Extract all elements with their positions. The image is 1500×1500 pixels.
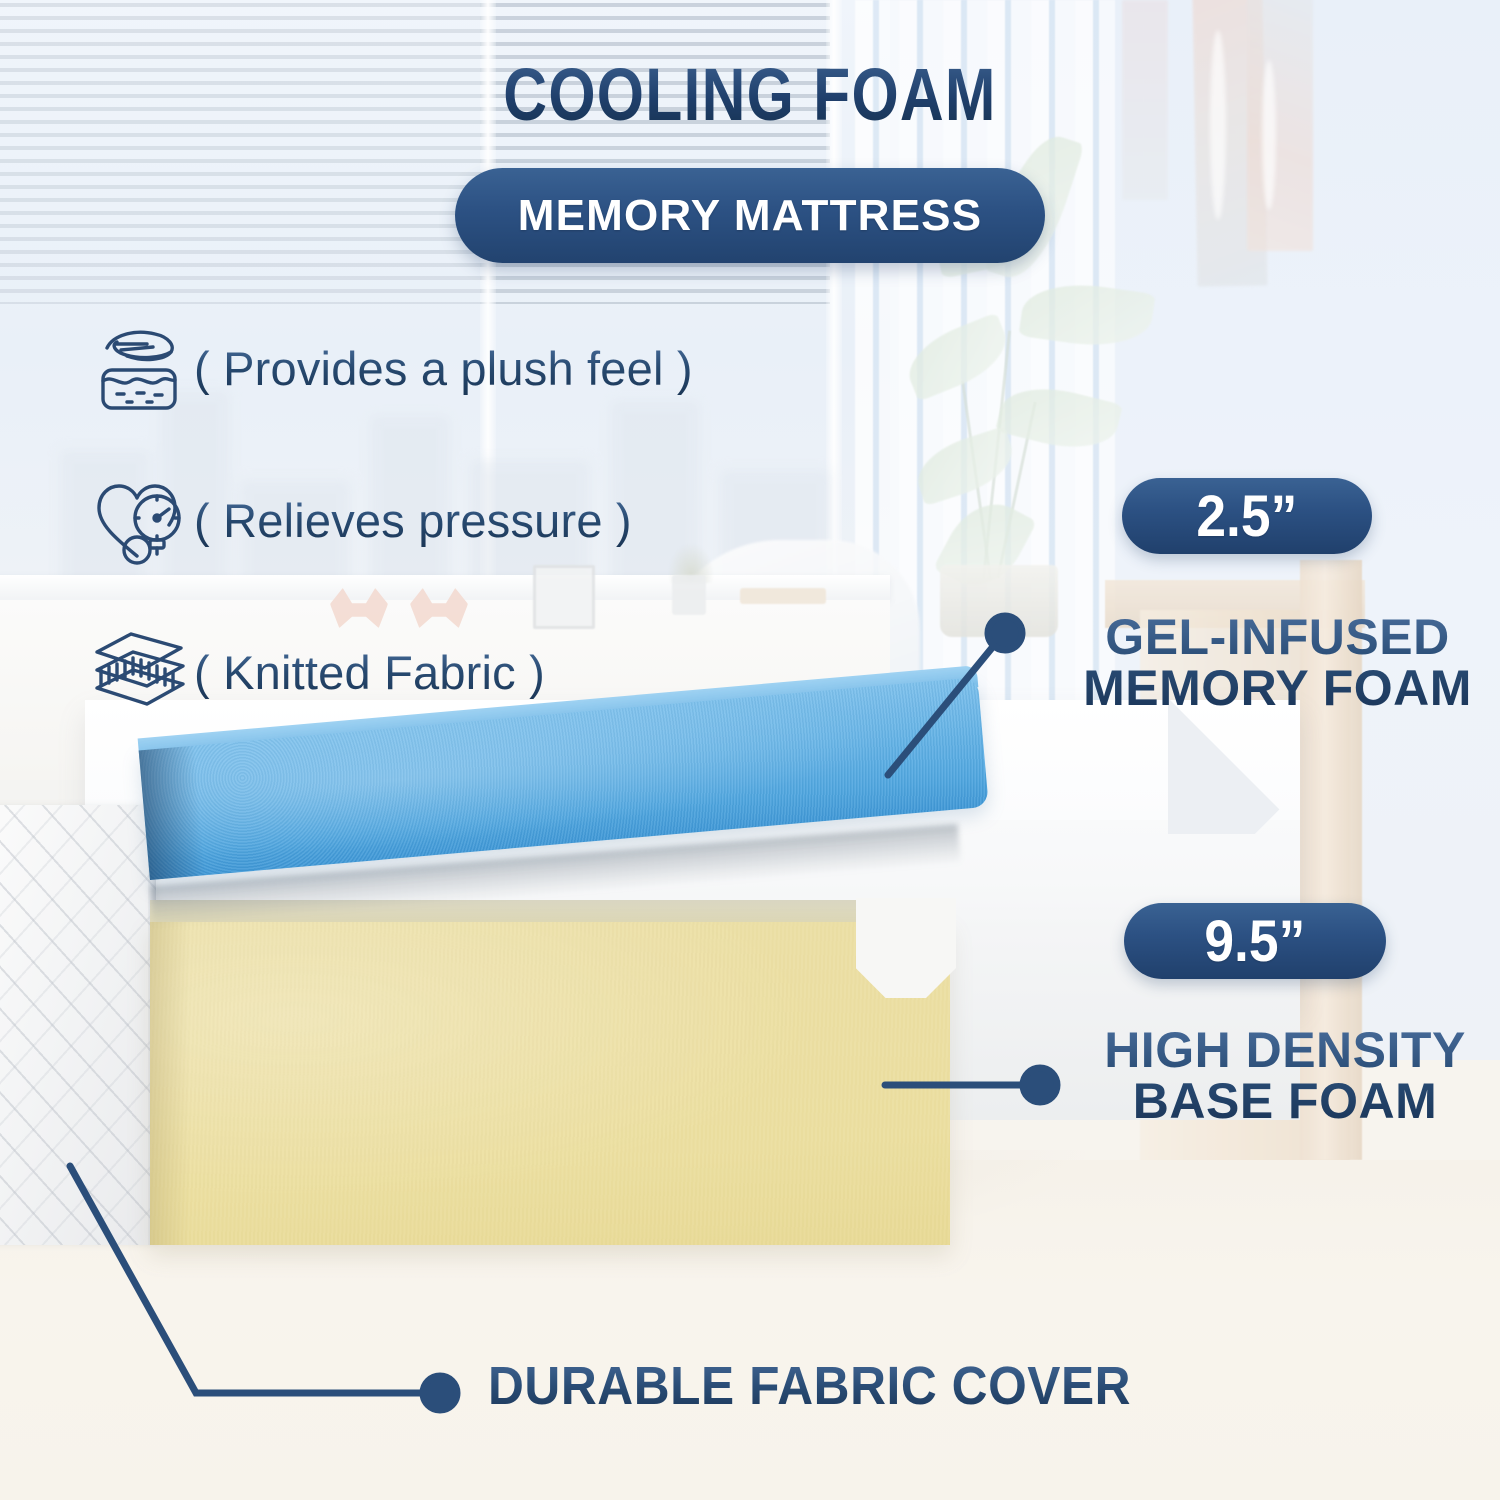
subtitle-pill-label: MEMORY MATTRESS [518, 191, 983, 241]
feature-label: ( Provides a plush feel ) [194, 341, 693, 396]
thickness-badge-base: 9.5” [1124, 903, 1386, 979]
thickness-badge-base-value: 9.5” [1205, 908, 1306, 975]
callout-gel-line1: GEL-INFUSED [1055, 612, 1500, 663]
plant-pot [940, 565, 1058, 637]
page-title: COOLING FOAM [135, 52, 1365, 137]
feature-label: ( Relieves pressure ) [194, 493, 632, 548]
thickness-badge-gel-value: 2.5” [1197, 483, 1298, 550]
feature-label: ( Knitted Fabric ) [194, 645, 545, 700]
subtitle-pill: MEMORY MATTRESS [455, 168, 1045, 263]
callout-base-line2: BASE FOAM [1070, 1076, 1500, 1127]
base-foam-left-shading [150, 922, 190, 1245]
infographic-canvas: COOLING FOAM MEMORY MATTRESS ( Provides … [0, 0, 1500, 1500]
callout-gel-line2: MEMORY FOAM [1055, 663, 1500, 714]
quilt-pattern [0, 805, 156, 1245]
background-mattress-corner-bevel [1168, 698, 1304, 834]
knitted-fabric-layers-icon [84, 626, 194, 718]
heart-pressure-gauge-icon [84, 474, 194, 566]
base-foam-corner-bevel [856, 898, 956, 998]
feature-item: ( Relieves pressure ) [84, 470, 864, 570]
base-foam-texture [150, 922, 950, 1245]
mattress-cutaway [0, 690, 1010, 1290]
feature-list: ( Provides a plush feel ) ( Relieves pre… [84, 318, 864, 774]
durable-fabric-cover-panel [0, 805, 156, 1245]
callout-base-line1: HIGH DENSITY [1070, 1025, 1500, 1076]
feature-item: ( Knitted Fabric ) [84, 622, 864, 722]
thickness-badge-gel: 2.5” [1122, 478, 1372, 554]
plush-feather-layer-icon [84, 322, 194, 414]
callout-durable-fabric-cover: DURABLE FABRIC COVER [488, 1355, 1131, 1417]
callout-high-density-base-foam: HIGH DENSITY BASE FOAM [1070, 1025, 1500, 1127]
callout-gel-memory-foam: GEL-INFUSED MEMORY FOAM [1055, 612, 1500, 714]
feature-item: ( Provides a plush feel ) [84, 318, 864, 418]
